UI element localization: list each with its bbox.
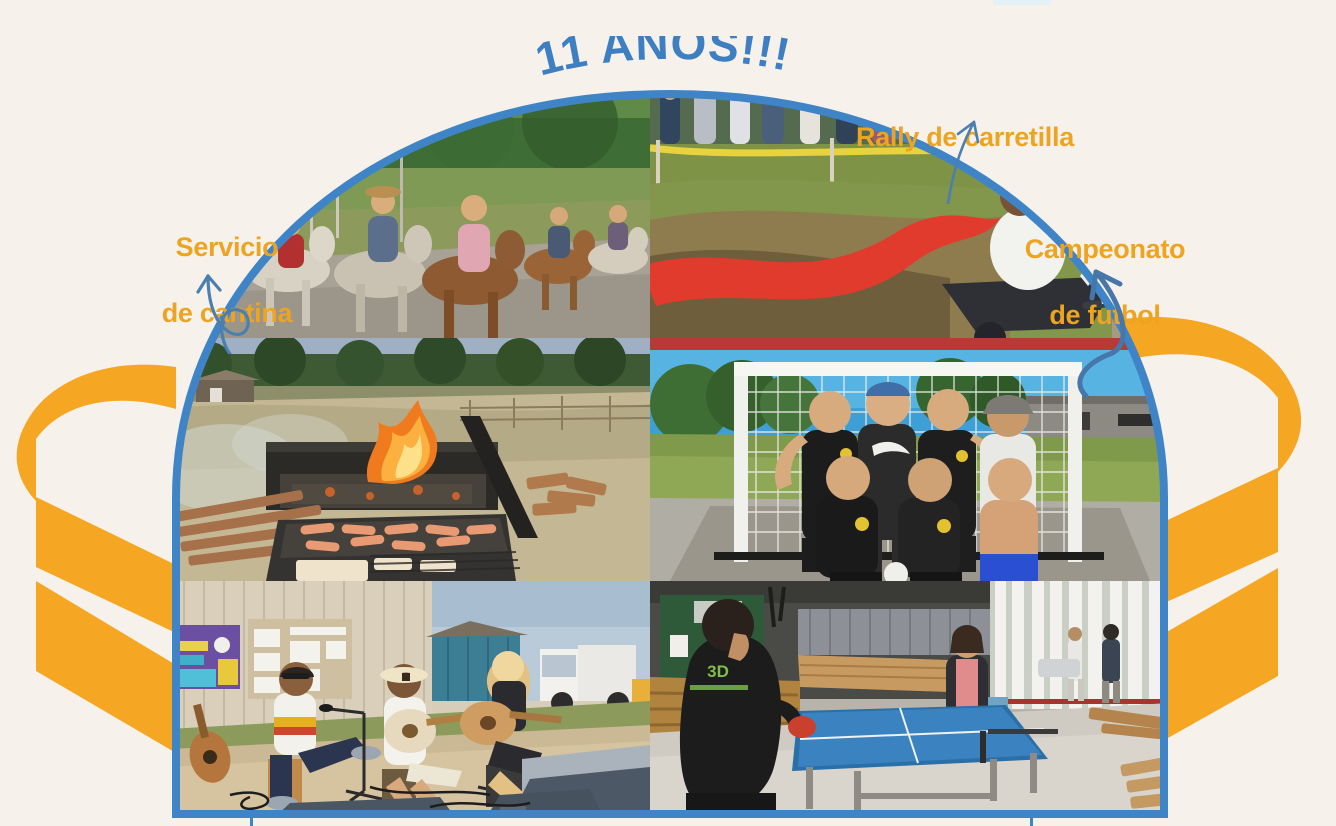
- curved-arrow-up-left-icon: [1062, 258, 1174, 400]
- arrow-up-icon: [918, 112, 992, 204]
- callout-cantina-line1: Servicio: [132, 231, 322, 264]
- frame-stem-left: [250, 816, 253, 826]
- page-title: 11 ANOS!!!: [455, 36, 875, 116]
- svg-text:11 ANOS!!!: 11 ANOS!!!: [530, 36, 795, 85]
- deco-left-swoosh: [0, 355, 180, 785]
- top-edge-chip: [993, 0, 1051, 5]
- page-title-text: 11 ANOS!!!: [530, 36, 795, 85]
- callout-rally-line1: Rally de carretilla: [856, 121, 1156, 154]
- frame-stem-right: [1030, 816, 1033, 826]
- photo-live-music: [170, 581, 650, 818]
- poster-canvas: 8: [0, 0, 1336, 826]
- curly-arrow-up-icon: [172, 262, 262, 354]
- callout-rally-de-carretilla: Rally de carretilla: [856, 88, 1156, 187]
- photo-table-tennis: 3D: [650, 581, 1170, 818]
- photo-asado-barbecue: [170, 338, 650, 581]
- svg-text:3D: 3D: [707, 662, 729, 681]
